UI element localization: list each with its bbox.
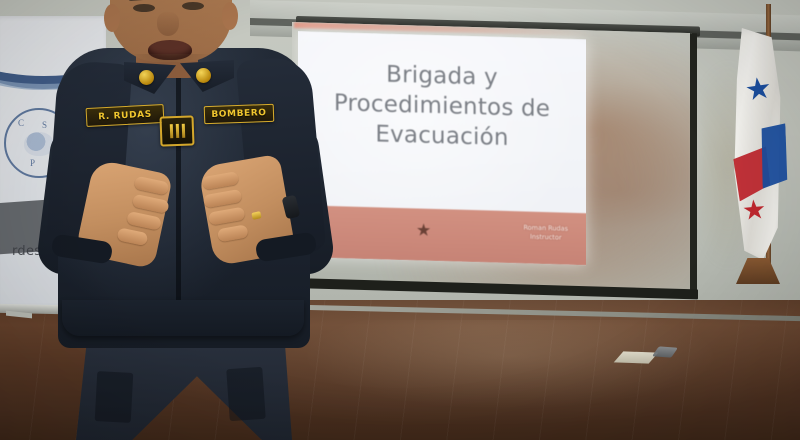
finger-r-1 [202, 171, 240, 190]
finger-r-3 [208, 207, 246, 226]
name-patch: R. RUDAS [86, 104, 165, 127]
trouser-pocket-left [95, 371, 134, 423]
eye-right [182, 2, 204, 10]
finger-r-2 [203, 189, 243, 208]
rank-insignia-icon [159, 115, 194, 146]
ear-right [222, 2, 238, 30]
finger-l-4 [116, 227, 148, 246]
rank-bar-1 [169, 124, 172, 138]
rank-bar-3 [181, 124, 184, 138]
nose [157, 12, 179, 36]
jacket-placket [176, 70, 181, 318]
ear-left [104, 4, 120, 32]
role-patch: BOMBERO [204, 104, 275, 124]
instructor-figure: R. RUDAS BOMBERO [0, 0, 800, 440]
finger-l-2 [132, 194, 170, 214]
eye-left [133, 4, 155, 12]
collar-pin-right-icon [196, 68, 211, 83]
finger-r-4 [217, 224, 249, 242]
trouser-pocket-right [226, 367, 266, 421]
finger-l-1 [134, 176, 170, 196]
finger-l-3 [126, 211, 162, 231]
photo-scene: Brigada y Procedimientos de Evacuación ★… [0, 0, 800, 440]
jacket-hem [62, 300, 304, 336]
rank-bar-2 [175, 124, 178, 138]
collar-pin-left-icon [139, 70, 154, 85]
